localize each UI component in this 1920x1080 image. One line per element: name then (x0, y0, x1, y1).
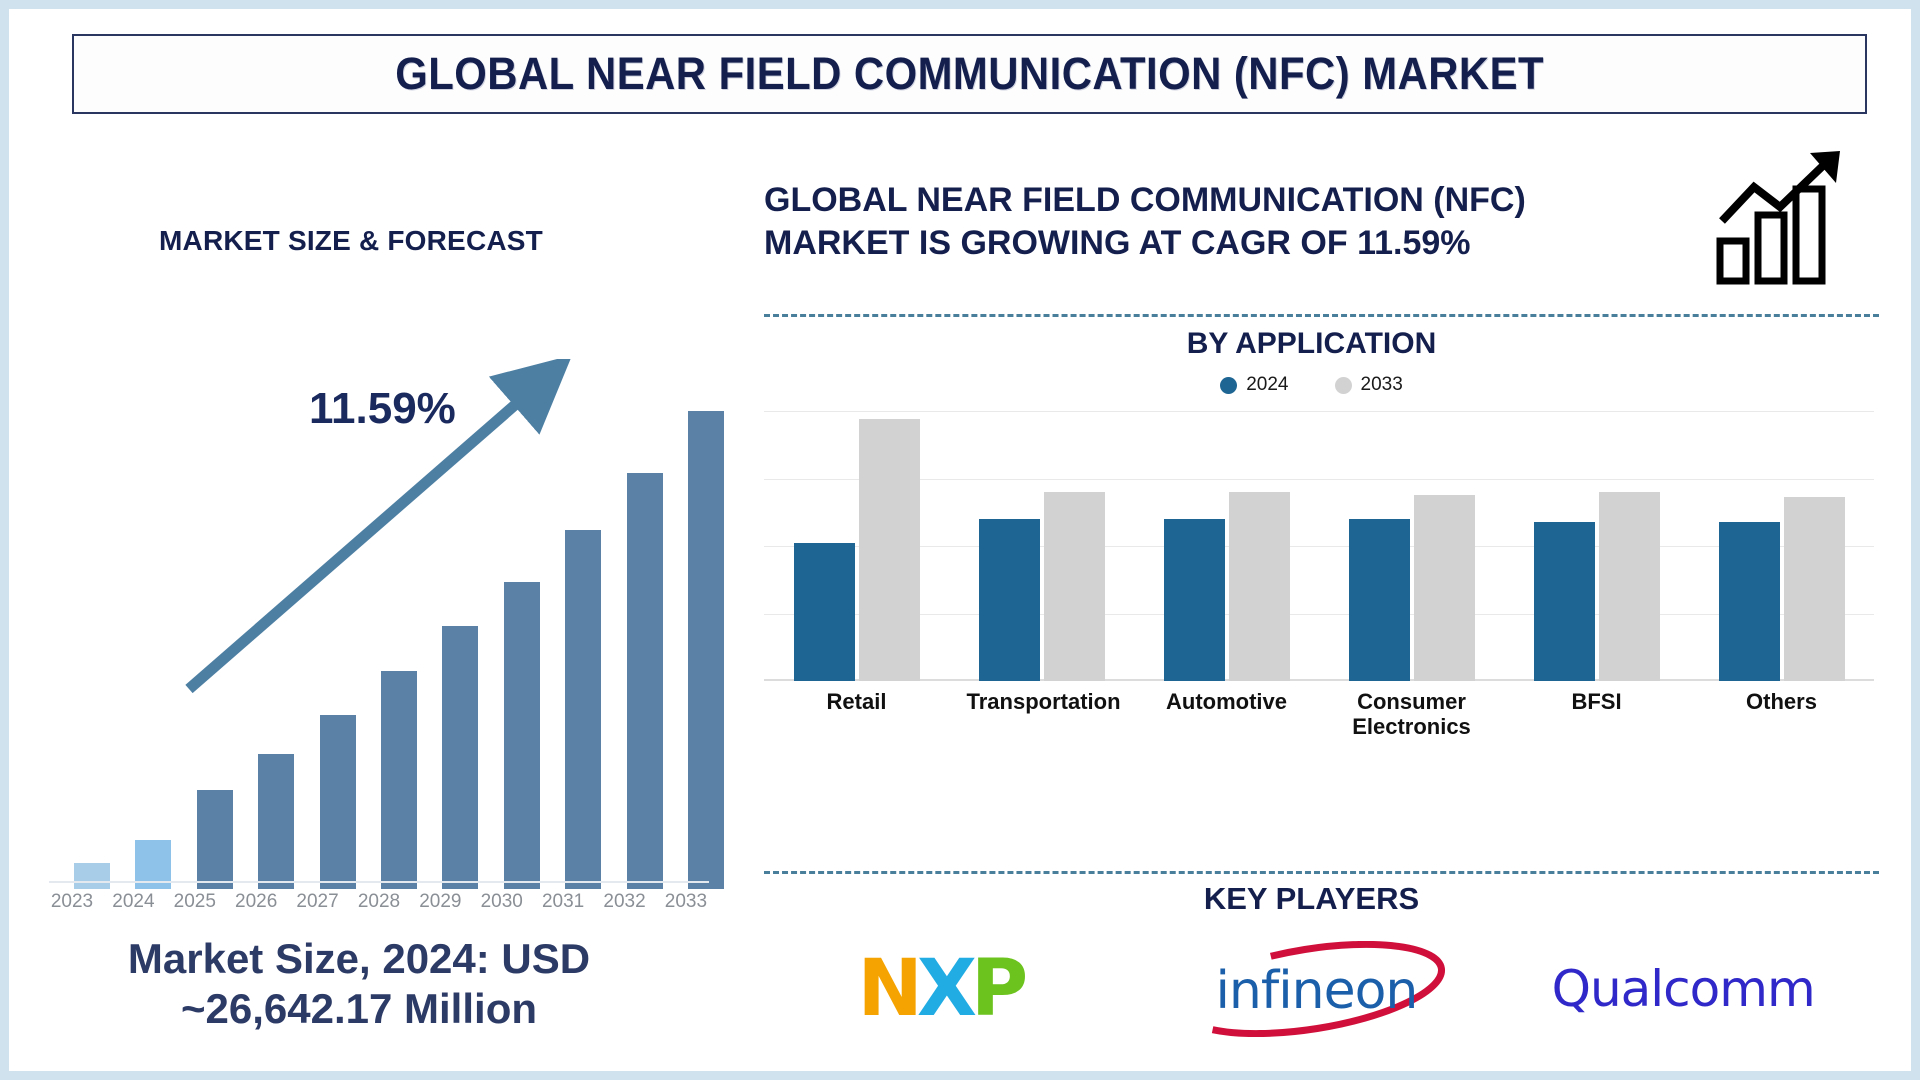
by-application-bar-chart (764, 411, 1874, 681)
bar-group-automotive (1152, 411, 1302, 681)
bar-column (622, 369, 668, 889)
year-label: 2028 (356, 891, 402, 913)
bar-column (130, 369, 176, 889)
market-size-value-line1: Market Size, 2024: USD (29, 934, 689, 984)
year-label: 2023 (49, 891, 95, 913)
nxp-letter-n: N (858, 944, 917, 1034)
infineon-wordmark: infineon (1161, 941, 1461, 1037)
page-title-box: GLOBAL NEAR FIELD COMMUNICATION (NFC) MA… (72, 34, 1867, 114)
year-label: 2030 (479, 891, 525, 913)
category-label: Automotive (1152, 689, 1302, 740)
year-label: 2032 (602, 891, 648, 913)
bar-group-transportation (967, 411, 1117, 681)
bar-column (683, 369, 729, 889)
infineon-text: infineon (1215, 961, 1417, 1021)
cagr-headline: GLOBAL NEAR FIELD COMMUNICATION (NFC) MA… (764, 179, 1664, 264)
legend-item-2024: 2024 (1220, 374, 1288, 396)
market-size-year-labels: 2023 2024 2025 2026 2027 2028 2029 2030 … (49, 891, 709, 913)
year-label: 2029 (417, 891, 463, 913)
year-label: 2033 (663, 891, 709, 913)
infographic-frame: GLOBAL NEAR FIELD COMMUNICATION (NFC) MA… (0, 0, 1920, 1080)
legend-item-2033: 2033 (1335, 374, 1403, 396)
application-chart-legend: 2024 2033 (754, 374, 1869, 396)
year-label: 2026 (233, 891, 279, 913)
market-size-bar-chart (69, 369, 729, 889)
bar-column (437, 369, 483, 889)
year-label: 2024 (110, 891, 156, 913)
year-label: 2025 (172, 891, 218, 913)
right-panel: GLOBAL NEAR FIELD COMMUNICATION (NFC) MA… (754, 129, 1894, 1069)
logo-infineon: infineon (1141, 934, 1481, 1044)
category-label: Consumer Electronics (1337, 689, 1487, 740)
category-label: Retail (782, 689, 932, 740)
bar-group-consumer-electronics (1337, 411, 1487, 681)
legend-label: 2033 (1361, 374, 1403, 396)
key-players-title: KEY PLAYERS (754, 881, 1869, 917)
market-size-value-line2: ~26,642.17 Million (29, 984, 689, 1034)
legend-dot-icon (1335, 377, 1352, 394)
legend-dot-icon (1220, 377, 1237, 394)
category-label: BFSI (1522, 689, 1672, 740)
by-application-title: BY APPLICATION (754, 327, 1869, 361)
page-title: GLOBAL NEAR FIELD COMMUNICATION (NFC) MA… (395, 48, 1544, 100)
logo-nxp: NXP (770, 934, 1110, 1044)
bar-group-bfsi (1522, 411, 1672, 681)
application-category-labels: Retail Transportation Automotive Consume… (764, 689, 1874, 740)
category-label: Others (1707, 689, 1857, 740)
bar-group-others (1707, 411, 1857, 681)
divider-top (764, 314, 1879, 317)
key-players-logos: NXP infineon Qualcomm (754, 929, 1869, 1049)
market-size-forecast-panel: MARKET SIZE & FORECAST 11.59% (29, 129, 729, 1069)
market-size-forecast-heading: MARKET SIZE & FORECAST (159, 225, 543, 257)
nxp-letter-p: P (971, 944, 1022, 1034)
market-size-value: Market Size, 2024: USD ~26,642.17 Millio… (29, 934, 689, 1033)
legend-label: 2024 (1246, 374, 1288, 396)
bar-group-retail (782, 411, 932, 681)
bar-column (315, 369, 361, 889)
bar-column (192, 369, 238, 889)
market-size-axis-line (49, 881, 709, 883)
logo-qualcomm: Qualcomm (1513, 934, 1853, 1044)
bar-column (499, 369, 545, 889)
year-label: 2031 (540, 891, 586, 913)
bar-column (253, 369, 299, 889)
bar-column (560, 369, 606, 889)
growth-bar-chart-icon (1714, 149, 1854, 289)
nxp-letter-x: X (917, 944, 971, 1034)
category-label: Transportation (967, 689, 1117, 740)
bar-column (69, 369, 115, 889)
qualcomm-wordmark: Qualcomm (1552, 960, 1815, 1018)
divider-bottom (764, 871, 1879, 874)
bar-column (376, 369, 422, 889)
year-label: 2027 (295, 891, 341, 913)
nxp-wordmark: NXP (858, 950, 1023, 1028)
